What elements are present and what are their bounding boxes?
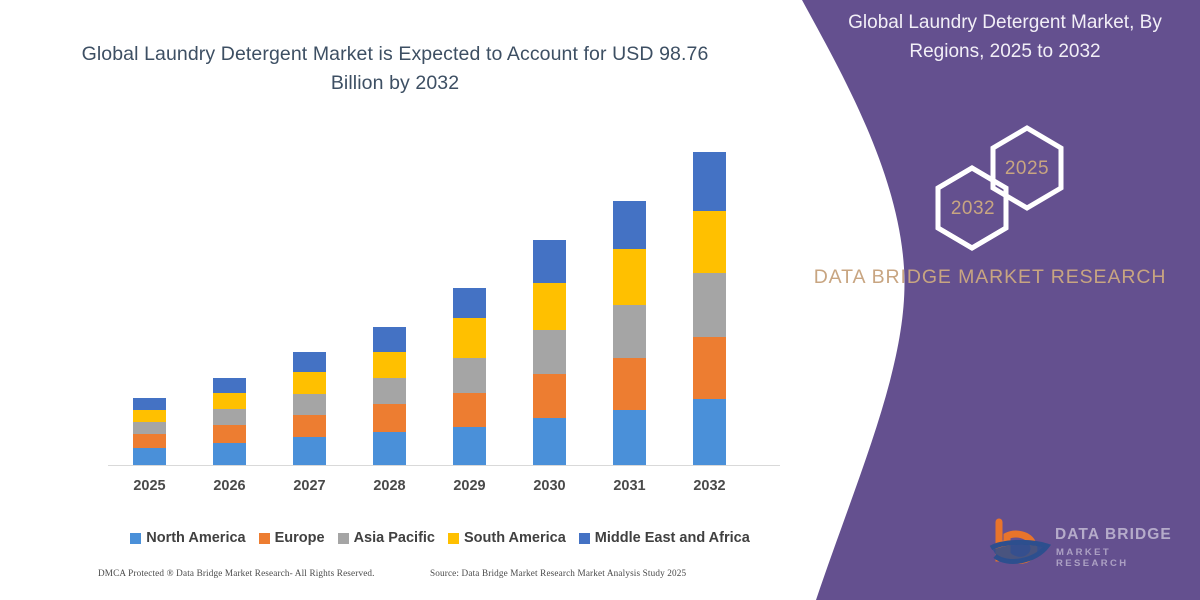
logo-text-primary: DATA BRIDGE (1055, 526, 1172, 544)
bar-segment-2032-middle-east-and-africa (693, 152, 726, 211)
bar-2030 (533, 240, 566, 465)
bar-2027 (293, 352, 326, 465)
brand-panel-background (780, 0, 1200, 600)
x-axis-label-2032: 2032 (675, 478, 745, 494)
legend-swatch-icon (338, 533, 349, 544)
bar-segment-2028-north-america (373, 432, 406, 465)
bar-segment-2031-europe (613, 358, 646, 410)
legend-item-middle-east-and-africa[interactable]: Middle East and Africa (579, 530, 750, 546)
chart-legend: North AmericaEuropeAsia PacificSouth Ame… (110, 530, 770, 546)
x-axis-label-2025: 2025 (115, 478, 185, 494)
legend-item-north-america[interactable]: North America (130, 530, 245, 546)
bar-segment-2027-north-america (293, 437, 326, 465)
bar-segment-2028-south-america (373, 352, 406, 378)
bar-segment-2031-asia-pacific (613, 305, 646, 358)
bar-segment-2028-europe (373, 404, 406, 432)
infographic-canvas: Global Laundry Detergent Market is Expec… (0, 0, 1200, 600)
legend-item-europe[interactable]: Europe (259, 530, 325, 546)
bar-segment-2026-south-america (213, 393, 246, 409)
bar-segment-2025-south-america (133, 410, 166, 422)
x-axis-label-group: 20252026202720282029203020312032 (0, 478, 840, 500)
bar-segment-2026-north-america (213, 443, 246, 465)
bar-segment-2029-middle-east-and-africa (453, 288, 486, 318)
bar-2026 (213, 378, 246, 465)
x-axis-label-2026: 2026 (195, 478, 265, 494)
bar-segment-2026-asia-pacific (213, 409, 246, 425)
bar-segment-2028-asia-pacific (373, 378, 406, 404)
x-axis-label-2027: 2027 (275, 478, 345, 494)
legend-label: South America (464, 530, 566, 546)
bar-segment-2030-middle-east-and-africa (533, 240, 566, 283)
bar-segment-2025-north-america (133, 448, 166, 465)
legend-swatch-icon (579, 533, 590, 544)
legend-label: North America (146, 530, 245, 546)
legend-label: Europe (275, 530, 325, 546)
legend-label: Asia Pacific (354, 530, 435, 546)
brand-panel-title: Global Laundry Detergent Market, By Regi… (825, 8, 1185, 66)
bar-segment-2031-south-america (613, 249, 646, 305)
bar-segment-2030-north-america (533, 418, 566, 465)
bar-2032 (693, 152, 726, 465)
bar-segment-2030-asia-pacific (533, 330, 566, 374)
x-axis-label-2031: 2031 (595, 478, 665, 494)
chart-panel: Global Laundry Detergent Market is Expec… (0, 0, 840, 600)
footer-source: Source: Data Bridge Market Research Mark… (430, 568, 686, 578)
legend-item-south-america[interactable]: South America (448, 530, 566, 546)
hexagon-2025-label: 2025 (1002, 158, 1052, 180)
bar-segment-2031-middle-east-and-africa (613, 201, 646, 249)
bar-segment-2026-europe (213, 425, 246, 443)
bar-2029 (453, 288, 486, 465)
x-axis-label-2030: 2030 (515, 478, 585, 494)
bar-segment-2032-europe (693, 337, 726, 399)
bar-segment-2029-asia-pacific (453, 358, 486, 393)
bar-segment-2030-south-america (533, 283, 566, 330)
stacked-bar-group (0, 0, 840, 600)
bar-2025 (133, 398, 166, 465)
data-bridge-logo-icon (985, 518, 1055, 574)
legend-item-asia-pacific[interactable]: Asia Pacific (338, 530, 435, 546)
bar-segment-2027-south-america (293, 372, 326, 394)
bar-segment-2025-middle-east-and-africa (133, 398, 166, 410)
legend-swatch-icon (130, 533, 141, 544)
bar-segment-2027-middle-east-and-africa (293, 352, 326, 372)
bar-segment-2028-middle-east-and-africa (373, 327, 406, 352)
legend-label: Middle East and Africa (595, 530, 750, 546)
bar-2031 (613, 201, 646, 465)
bar-segment-2031-north-america (613, 410, 646, 465)
bar-2028 (373, 327, 406, 465)
bar-segment-2025-europe (133, 434, 166, 448)
bar-segment-2032-south-america (693, 211, 726, 273)
logo-text-secondary: MARKET RESEARCH (1056, 547, 1185, 569)
bar-segment-2032-asia-pacific (693, 273, 726, 337)
x-axis-label-2028: 2028 (355, 478, 425, 494)
bar-segment-2029-europe (453, 393, 486, 427)
bar-segment-2027-europe (293, 415, 326, 437)
legend-swatch-icon (259, 533, 270, 544)
bar-segment-2029-north-america (453, 427, 486, 465)
footer-copyright: DMCA Protected ® Data Bridge Market Rese… (98, 568, 375, 578)
brand-research-name: DATA BRIDGE MARKET RESEARCH (810, 262, 1170, 292)
x-axis-label-2029: 2029 (435, 478, 505, 494)
data-bridge-logo: DATA BRIDGE MARKET RESEARCH (985, 518, 1185, 578)
bar-segment-2026-middle-east-and-africa (213, 378, 246, 393)
legend-swatch-icon (448, 533, 459, 544)
bar-segment-2027-asia-pacific (293, 394, 326, 415)
bar-segment-2025-asia-pacific (133, 422, 166, 434)
bar-segment-2032-north-america (693, 399, 726, 465)
bar-segment-2030-europe (533, 374, 566, 418)
bar-segment-2029-south-america (453, 318, 486, 358)
brand-panel: Global Laundry Detergent Market, By Regi… (780, 0, 1200, 600)
hexagon-2032-label: 2032 (948, 198, 998, 220)
